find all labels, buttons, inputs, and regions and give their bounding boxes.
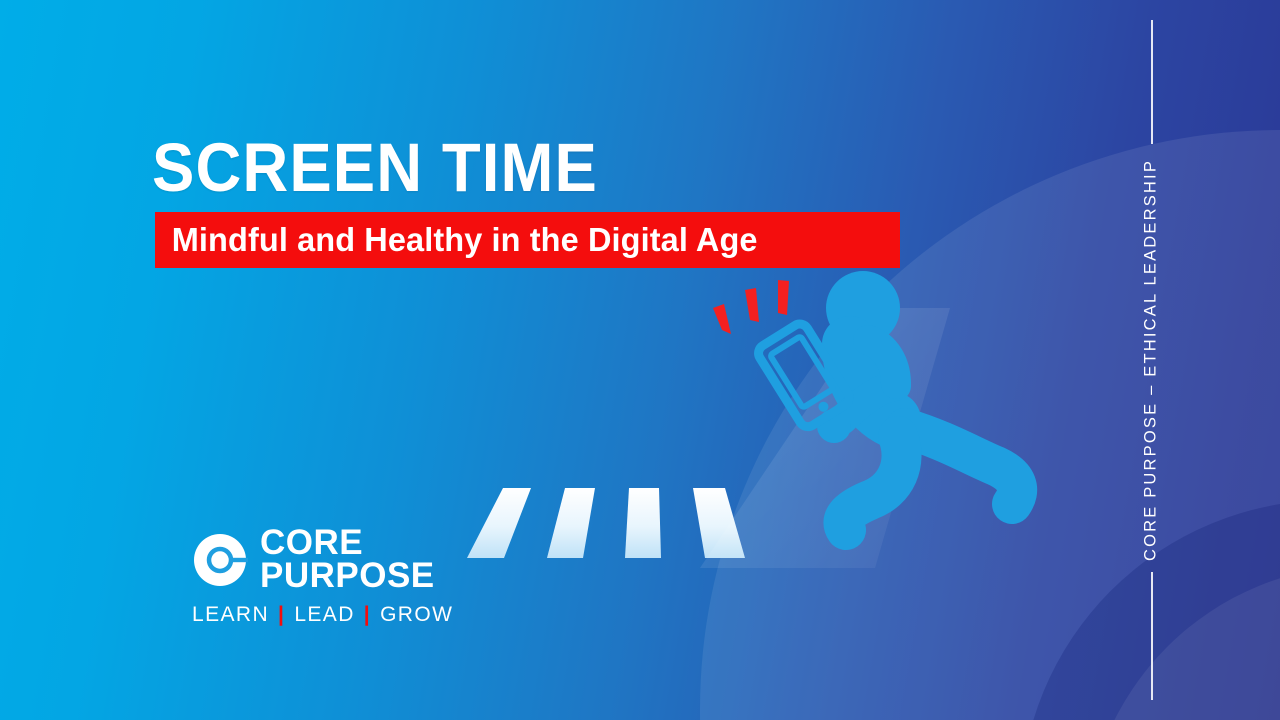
- tagline-separator-2: |: [364, 603, 371, 627]
- presentation-slide: SCREEN TIME Mindful and Healthy in the D…: [0, 0, 1280, 720]
- background-circle-inner: [1085, 565, 1280, 720]
- side-rail-label: CORE PURPOSE – ETHICAL LEADERSHIP: [1142, 159, 1161, 561]
- alert-lines-icon: [713, 280, 789, 334]
- logo-word-line2: PURPOSE: [260, 560, 435, 593]
- pedestrian-figure-illustration: [700, 268, 1070, 568]
- tagline-separator-1: |: [278, 603, 285, 627]
- brand-logo: CORE PURPOSE LEARN | LEAD | GROW: [192, 527, 442, 627]
- tagline-lead: LEAD: [294, 603, 354, 627]
- logo-tagline: LEARN | LEAD | GROW: [192, 603, 442, 627]
- logo-word-line1: CORE: [260, 527, 435, 560]
- side-rail-line-top: [1151, 20, 1153, 144]
- subtitle-banner: Mindful and Healthy in the Digital Age: [155, 212, 900, 268]
- logo-wordmark: CORE PURPOSE: [260, 527, 435, 592]
- subtitle-text: Mindful and Healthy in the Digital Age: [155, 221, 758, 259]
- logo-lockup: CORE PURPOSE: [192, 527, 442, 592]
- core-purpose-logo-icon: [192, 532, 248, 588]
- tagline-learn: LEARN: [192, 603, 269, 627]
- figure-back-leg: [905, 428, 1017, 504]
- page-title: SCREEN TIME: [152, 133, 598, 202]
- side-rail-line-bottom: [1151, 572, 1153, 700]
- tagline-grow: GROW: [380, 603, 453, 627]
